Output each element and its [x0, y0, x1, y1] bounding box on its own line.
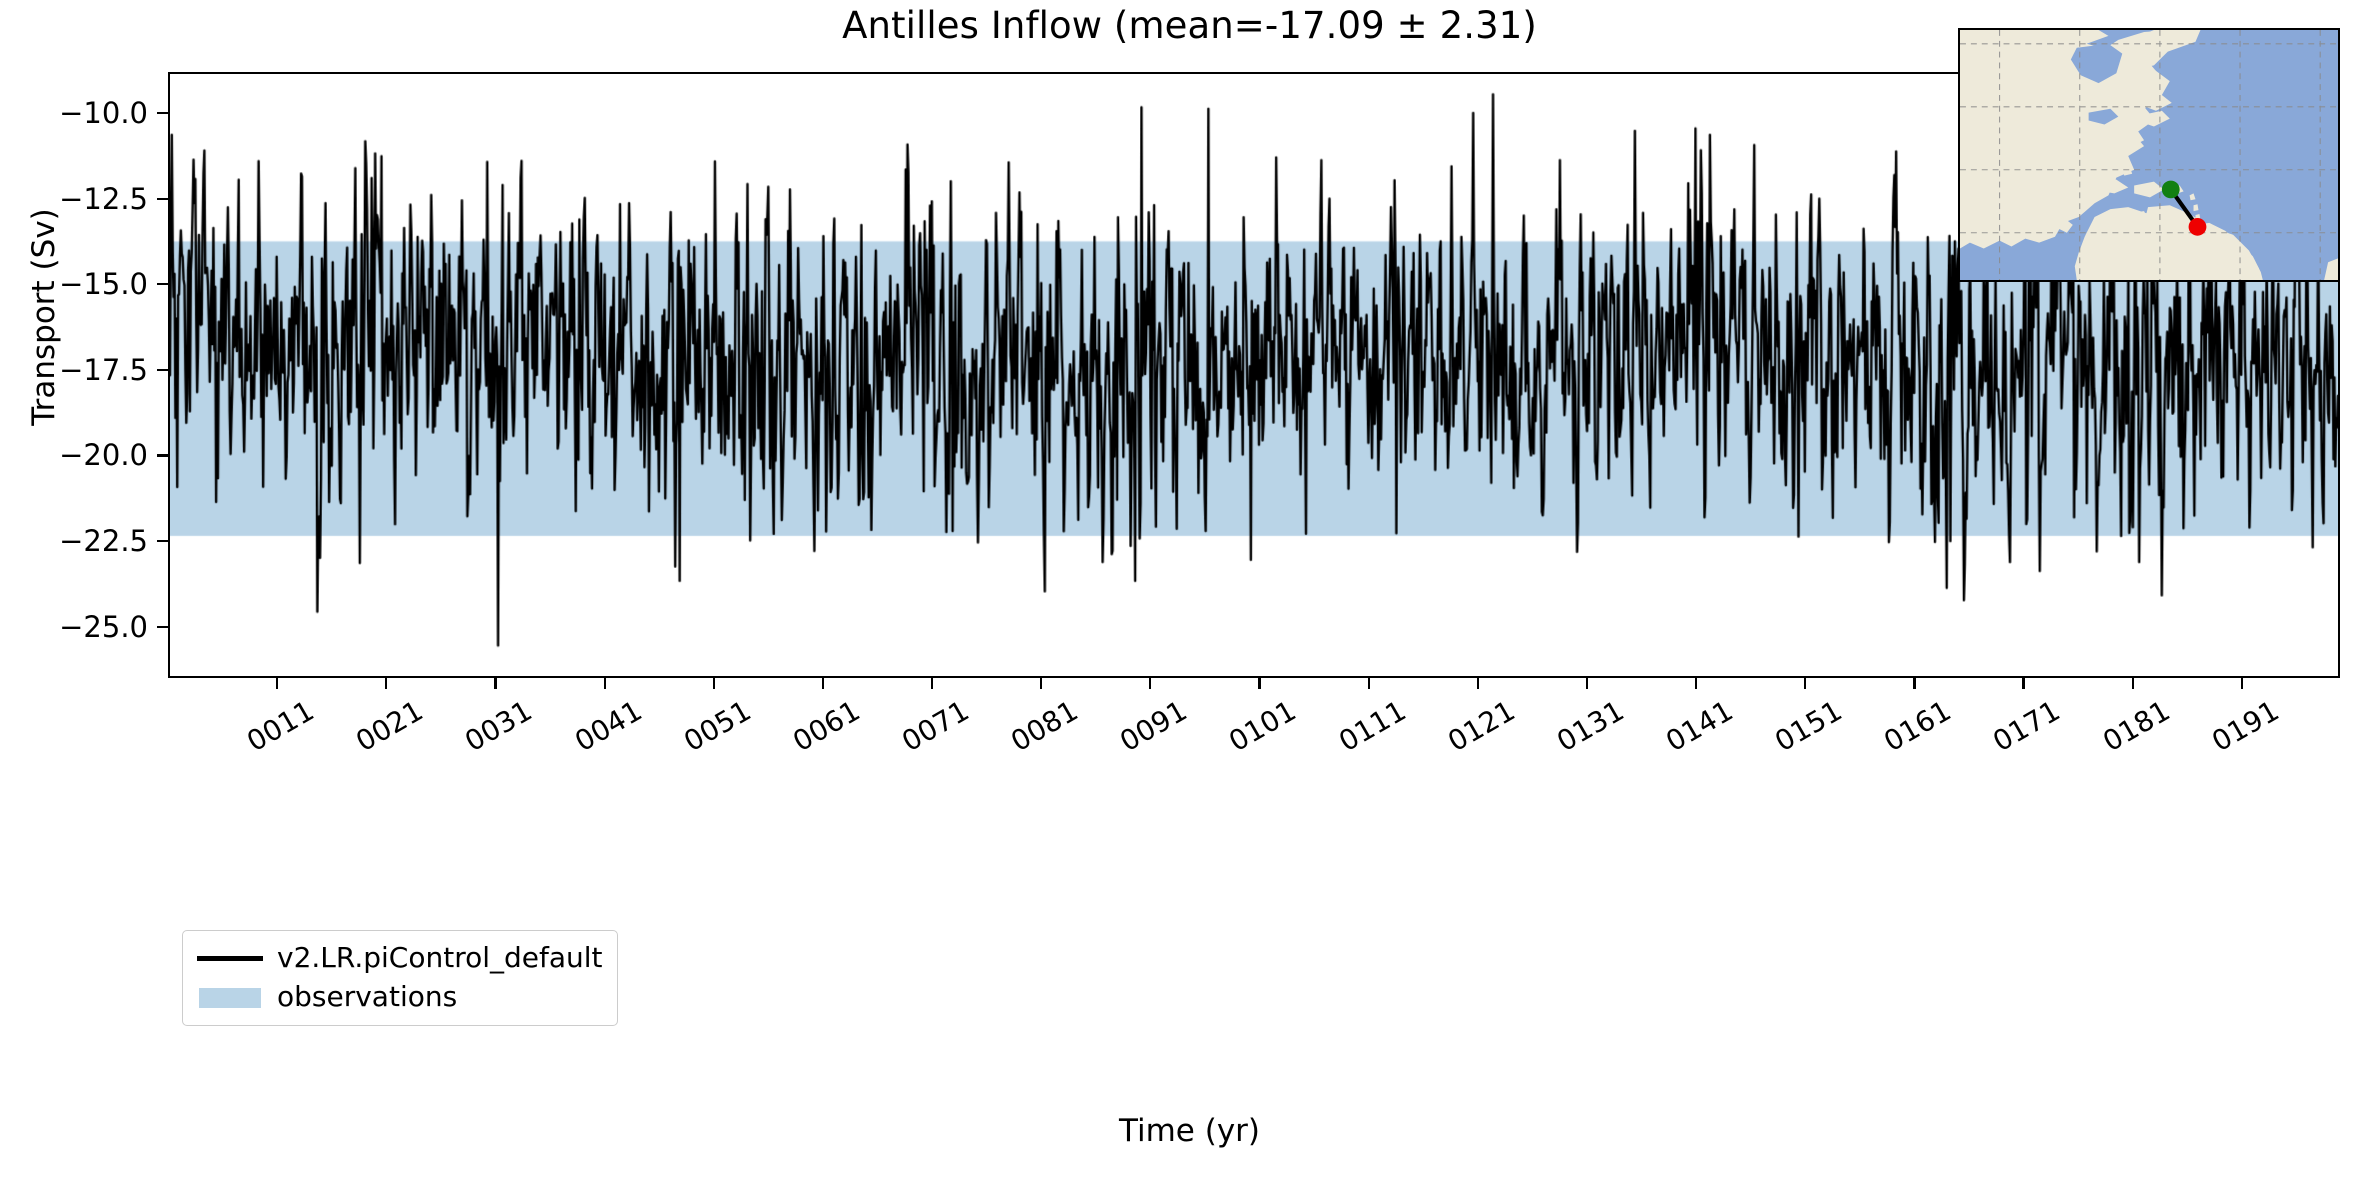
- x-axis-tick-mark: [931, 678, 933, 689]
- legend-item-model[interactable]: v2.LR.piControl_default: [197, 941, 603, 975]
- figure-root: Antilles Inflow (mean=-17.09 ± 2.31) −10…: [0, 0, 2379, 1180]
- legend-label-observations: observations: [277, 980, 457, 1014]
- x-axis-tick-mark: [1149, 678, 1151, 689]
- y-axis-tick-mark: [157, 198, 168, 200]
- y-axis-tick-mark: [157, 369, 168, 371]
- x-axis-tick-mark: [604, 678, 606, 689]
- y-axis-tick-label: −12.5: [0, 182, 148, 216]
- section-start-marker[interactable]: [2162, 181, 2180, 199]
- legend-line-swatch: [197, 941, 263, 975]
- y-axis-tick-mark: [157, 454, 168, 456]
- x-axis-tick-mark: [713, 678, 715, 689]
- y-axis-tick-label: −17.5: [0, 353, 148, 387]
- x-axis-tick-mark: [1804, 678, 1806, 689]
- x-axis-tick-mark: [2132, 678, 2134, 689]
- x-axis-tick-mark: [1258, 678, 1260, 689]
- x-axis-tick-mark: [2241, 678, 2243, 689]
- x-axis-tick-mark: [1586, 678, 1588, 689]
- y-axis-tick-label: −25.0: [0, 610, 148, 644]
- y-axis-tick-label: −20.0: [0, 438, 148, 472]
- legend-item-observations[interactable]: observations: [197, 980, 603, 1014]
- x-axis-tick-mark: [494, 678, 496, 689]
- legend[interactable]: v2.LR.piControl_default observations: [182, 930, 618, 1026]
- section-end-marker[interactable]: [2189, 218, 2207, 236]
- y-axis-tick-mark: [157, 283, 168, 285]
- y-axis-label: Transport (Sv): [26, 0, 62, 637]
- y-axis-tick-label: −15.0: [0, 267, 148, 301]
- x-axis-tick-mark: [1368, 678, 1370, 689]
- legend-label-model: v2.LR.piControl_default: [277, 941, 603, 975]
- y-axis-tick-mark: [157, 540, 168, 542]
- y-axis-tick-label: −10.0: [0, 96, 148, 130]
- x-axis-tick-mark: [1040, 678, 1042, 689]
- x-axis-tick-mark: [1913, 678, 1915, 689]
- inset-map[interactable]: [1958, 28, 2340, 282]
- y-axis-tick-label: −22.5: [0, 524, 148, 558]
- inset-map-svg: [1960, 30, 2338, 280]
- x-axis-tick-mark: [385, 678, 387, 689]
- y-axis-tick-mark: [157, 626, 168, 628]
- x-axis-tick-mark: [1695, 678, 1697, 689]
- x-axis-tick-mark: [2022, 678, 2024, 689]
- x-axis-tick-mark: [1477, 678, 1479, 689]
- y-axis-tick-mark: [157, 112, 168, 114]
- x-axis-label: Time (yr): [0, 1113, 2379, 1149]
- x-axis-tick-mark: [276, 678, 278, 689]
- legend-patch-swatch: [197, 980, 263, 1014]
- x-axis-tick-mark: [822, 678, 824, 689]
